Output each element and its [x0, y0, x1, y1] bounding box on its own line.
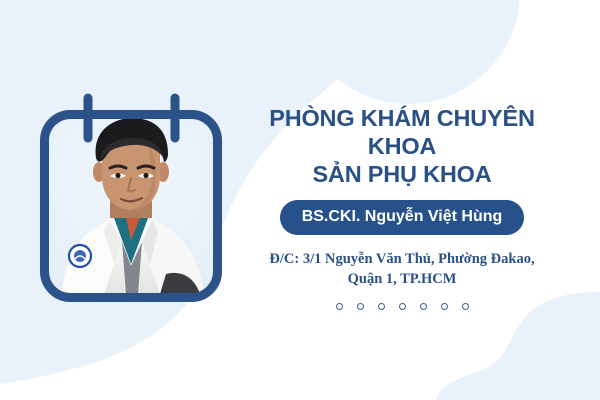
headline-line-1: PHÒNG KHÁM CHUYÊN KHOA — [269, 105, 535, 159]
clinic-info: PHÒNG KHÁM CHUYÊN KHOA SẢN PHỤ KHOA BS.C… — [232, 104, 572, 310]
decorative-dot-icon — [441, 303, 448, 310]
decorative-dot-icon — [378, 303, 385, 310]
page-title: PHÒNG KHÁM CHUYÊN KHOA SẢN PHỤ KHOA — [232, 104, 572, 188]
headline-line-2: SẢN PHỤ KHOA — [232, 160, 572, 188]
decorative-dot-icon — [420, 303, 427, 310]
doctor-name-row: BS.CKI. Nguyễn Việt Hùng — [232, 200, 572, 235]
address-line-1: Đ/C: 3/1 Nguyễn Văn Thủ, Phường Đakao, — [232, 249, 572, 269]
frame-outline — [45, 115, 218, 298]
doctor-photo-frame — [40, 92, 222, 302]
decorative-dot-row — [232, 303, 572, 310]
decorative-dot-icon — [357, 303, 364, 310]
address-line-2: Quận 1, TP.HCM — [232, 269, 572, 289]
decorative-dot-icon — [462, 303, 469, 310]
clinic-address: Đ/C: 3/1 Nguyễn Văn Thủ, Phường Đakao, Q… — [232, 249, 572, 289]
clinic-banner: PHÒNG KHÁM CHUYÊN KHOA SẢN PHỤ KHOA BS.C… — [0, 0, 600, 400]
decorative-dot-icon — [336, 303, 343, 310]
decorative-dot-icon — [399, 303, 406, 310]
doctor-name-badge: BS.CKI. Nguyễn Việt Hùng — [280, 200, 525, 235]
photo-frame-icon — [40, 92, 222, 302]
